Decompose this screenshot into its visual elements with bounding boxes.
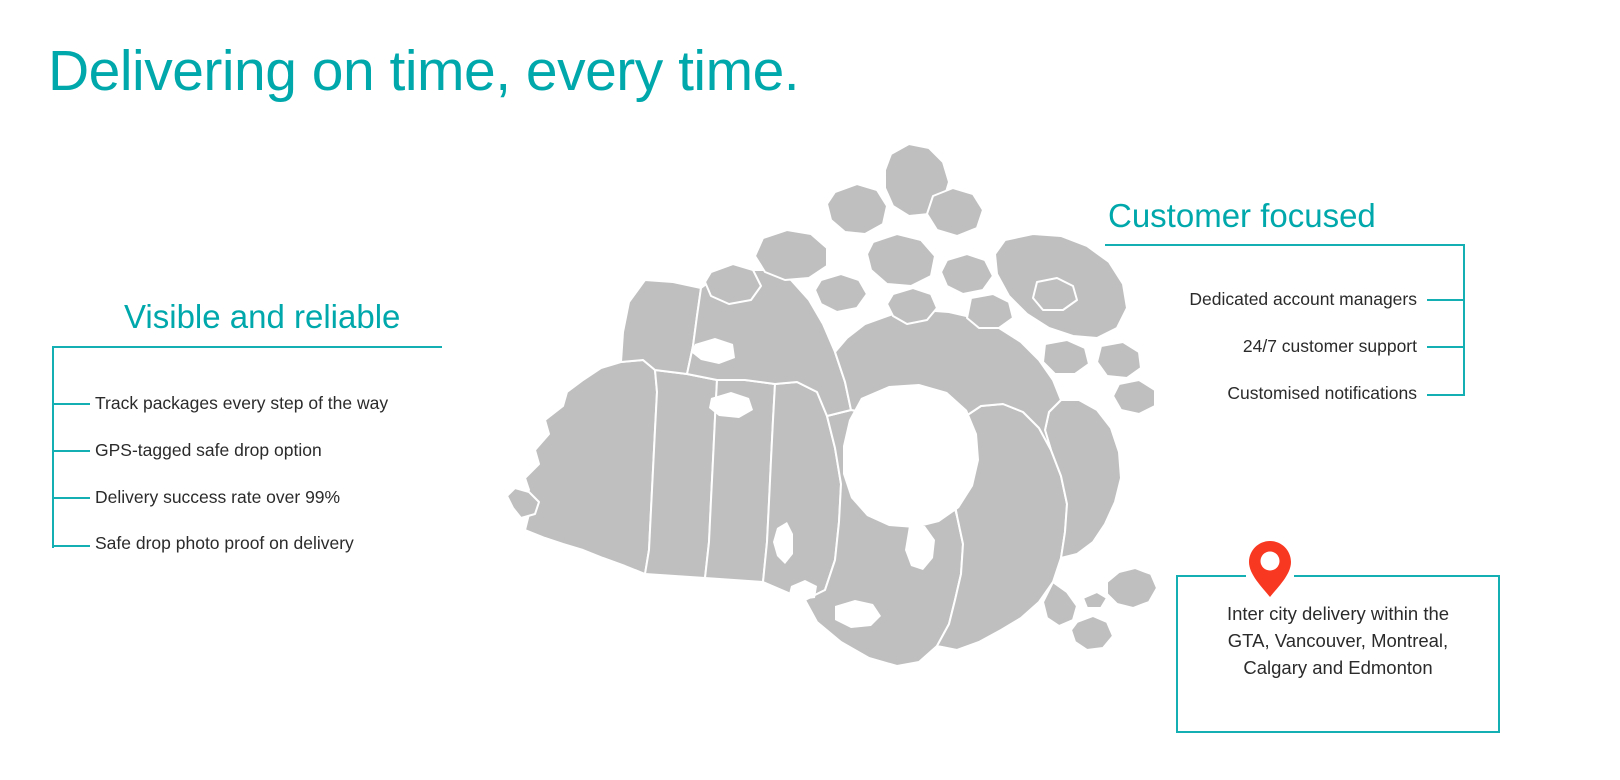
left-item-tick — [52, 497, 90, 499]
right-item-tick — [1427, 394, 1465, 396]
list-item: Track packages every step of the way — [95, 392, 388, 414]
callout-line: GTA, Vancouver, Montreal, — [1186, 627, 1490, 654]
list-item: Safe drop photo proof on delivery — [95, 532, 354, 554]
left-item-tick — [52, 545, 90, 547]
left-panel-bracket-spine — [52, 346, 54, 548]
callout-text: Inter city delivery within the GTA, Vanc… — [1186, 600, 1490, 681]
right-item-tick — [1427, 299, 1465, 301]
map-pin-icon — [1248, 540, 1292, 598]
list-item: GPS-tagged safe drop option — [95, 439, 322, 461]
right-panel-bracket-spine — [1463, 244, 1465, 396]
left-item-tick — [52, 403, 90, 405]
callout-line: Calgary and Edmonton — [1186, 654, 1490, 681]
list-item: Customised notifications — [1000, 382, 1417, 404]
left-item-tick — [52, 450, 90, 452]
right-item-tick — [1427, 346, 1465, 348]
right-panel-heading-underline — [1105, 244, 1465, 246]
left-panel-heading: Visible and reliable — [124, 297, 400, 337]
right-panel-heading: Customer focused — [1108, 196, 1376, 236]
left-panel-heading-underline — [52, 346, 442, 348]
infographic-slide: Delivering on time, every time. — [0, 0, 1620, 780]
list-item: Delivery success rate over 99% — [95, 486, 340, 508]
list-item: 24/7 customer support — [1000, 335, 1417, 357]
visible-and-reliable-panel: Visible and reliable Track packages ever… — [0, 0, 500, 780]
callout-line: Inter city delivery within the — [1186, 600, 1490, 627]
list-item: Dedicated account managers — [1000, 288, 1417, 310]
